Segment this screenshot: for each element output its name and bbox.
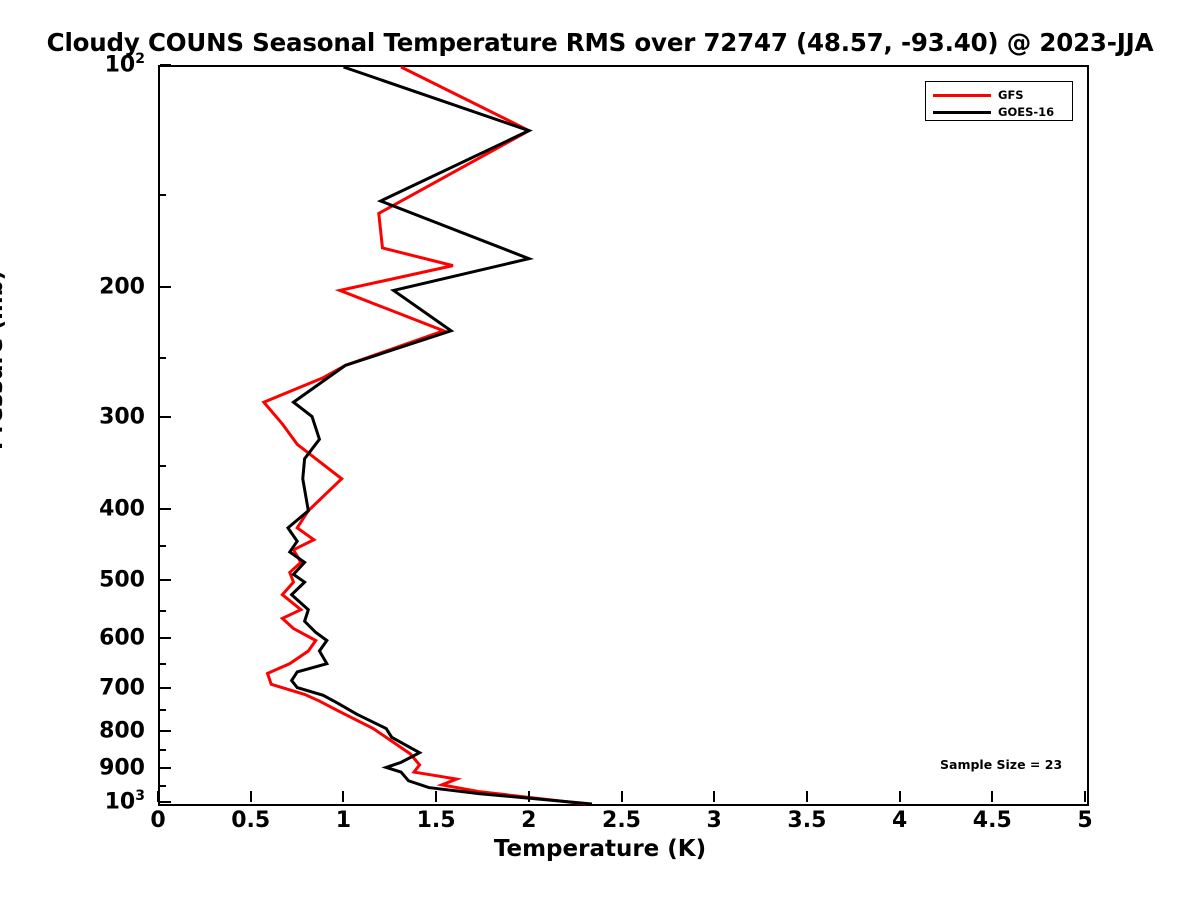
x-tick-label-0: 0 bbox=[150, 808, 165, 833]
x-tick-mark bbox=[806, 791, 808, 802]
sample-size-annotation: Sample Size = 23 bbox=[940, 757, 1062, 772]
y-minor-tick-mark bbox=[160, 785, 166, 787]
x-tick-mark bbox=[621, 791, 623, 802]
x-tick-mark bbox=[991, 791, 993, 802]
y-minor-tick-mark bbox=[160, 663, 166, 665]
legend-swatch-icon bbox=[933, 94, 991, 97]
chart-figure: Cloudy COUNS Seasonal Temperature RMS ov… bbox=[0, 0, 1200, 900]
y-minor-tick-mark bbox=[160, 357, 166, 359]
x-tick-label-5: 5 bbox=[1077, 808, 1092, 833]
legend-label: GFS bbox=[998, 88, 1024, 102]
y-tick-label-400: 400 bbox=[20, 496, 145, 521]
y-tick-mark bbox=[160, 416, 171, 418]
y-tick-mark bbox=[160, 730, 171, 732]
x-tick-label-1: 1 bbox=[336, 808, 351, 833]
y-tick-label-200: 200 bbox=[20, 274, 145, 299]
x-tick-mark bbox=[435, 791, 437, 802]
y-tick-mark bbox=[160, 286, 171, 288]
x-tick-label-4-5: 4.5 bbox=[973, 808, 1012, 833]
legend-swatch-icon bbox=[933, 111, 991, 114]
plot-area bbox=[158, 65, 1089, 806]
y-tick-label-600: 600 bbox=[20, 626, 145, 651]
chart-title: Cloudy COUNS Seasonal Temperature RMS ov… bbox=[0, 28, 1200, 57]
y-minor-tick-mark bbox=[160, 749, 166, 751]
y-tick-mark bbox=[160, 637, 171, 639]
y-tick-mark bbox=[160, 687, 171, 689]
y-minor-tick-mark bbox=[160, 194, 166, 196]
series-layer bbox=[264, 67, 592, 804]
plot-canvas bbox=[160, 67, 1087, 804]
series-line-goes-16 bbox=[288, 67, 592, 804]
y-tick-label-1000: 103 bbox=[20, 790, 145, 815]
y-tick-label-800: 800 bbox=[20, 718, 145, 743]
y-minor-tick-mark bbox=[160, 709, 166, 711]
x-tick-label-2-5: 2.5 bbox=[602, 808, 641, 833]
y-tick-label-900: 900 bbox=[20, 756, 145, 781]
legend-label: GOES-16 bbox=[998, 105, 1054, 119]
x-tick-label-3: 3 bbox=[707, 808, 722, 833]
x-tick-mark bbox=[713, 791, 715, 802]
y-tick-mark bbox=[160, 801, 171, 803]
x-tick-mark bbox=[250, 791, 252, 802]
x-tick-label-0-5: 0.5 bbox=[231, 808, 270, 833]
x-tick-label-2: 2 bbox=[521, 808, 536, 833]
legend: GFSGOES-16 bbox=[925, 81, 1073, 121]
x-tick-label-4: 4 bbox=[892, 808, 907, 833]
y-axis-label: Pressure (mb) bbox=[0, 270, 8, 450]
legend-item-goes-16[interactable]: GOES-16 bbox=[926, 103, 1074, 121]
y-tick-label-100: 102 bbox=[20, 53, 145, 78]
y-tick-mark bbox=[160, 767, 171, 769]
x-tick-mark bbox=[157, 791, 159, 802]
y-tick-mark bbox=[160, 64, 171, 66]
y-minor-tick-mark bbox=[160, 545, 166, 547]
x-tick-label-1-5: 1.5 bbox=[417, 808, 456, 833]
y-tick-label-500: 500 bbox=[20, 568, 145, 593]
x-tick-mark bbox=[899, 791, 901, 802]
y-tick-label-700: 700 bbox=[20, 675, 145, 700]
y-minor-tick-mark bbox=[160, 610, 166, 612]
x-tick-label-3-5: 3.5 bbox=[787, 808, 826, 833]
legend-item-gfs[interactable]: GFS bbox=[926, 86, 1074, 104]
y-minor-tick-mark bbox=[160, 465, 166, 467]
x-tick-mark bbox=[528, 791, 530, 802]
x-axis-label: Temperature (K) bbox=[0, 836, 1200, 862]
y-tick-label-300: 300 bbox=[20, 404, 145, 429]
x-tick-mark bbox=[342, 791, 344, 802]
x-tick-mark bbox=[1084, 791, 1086, 802]
y-tick-mark bbox=[160, 579, 171, 581]
y-tick-mark bbox=[160, 508, 171, 510]
